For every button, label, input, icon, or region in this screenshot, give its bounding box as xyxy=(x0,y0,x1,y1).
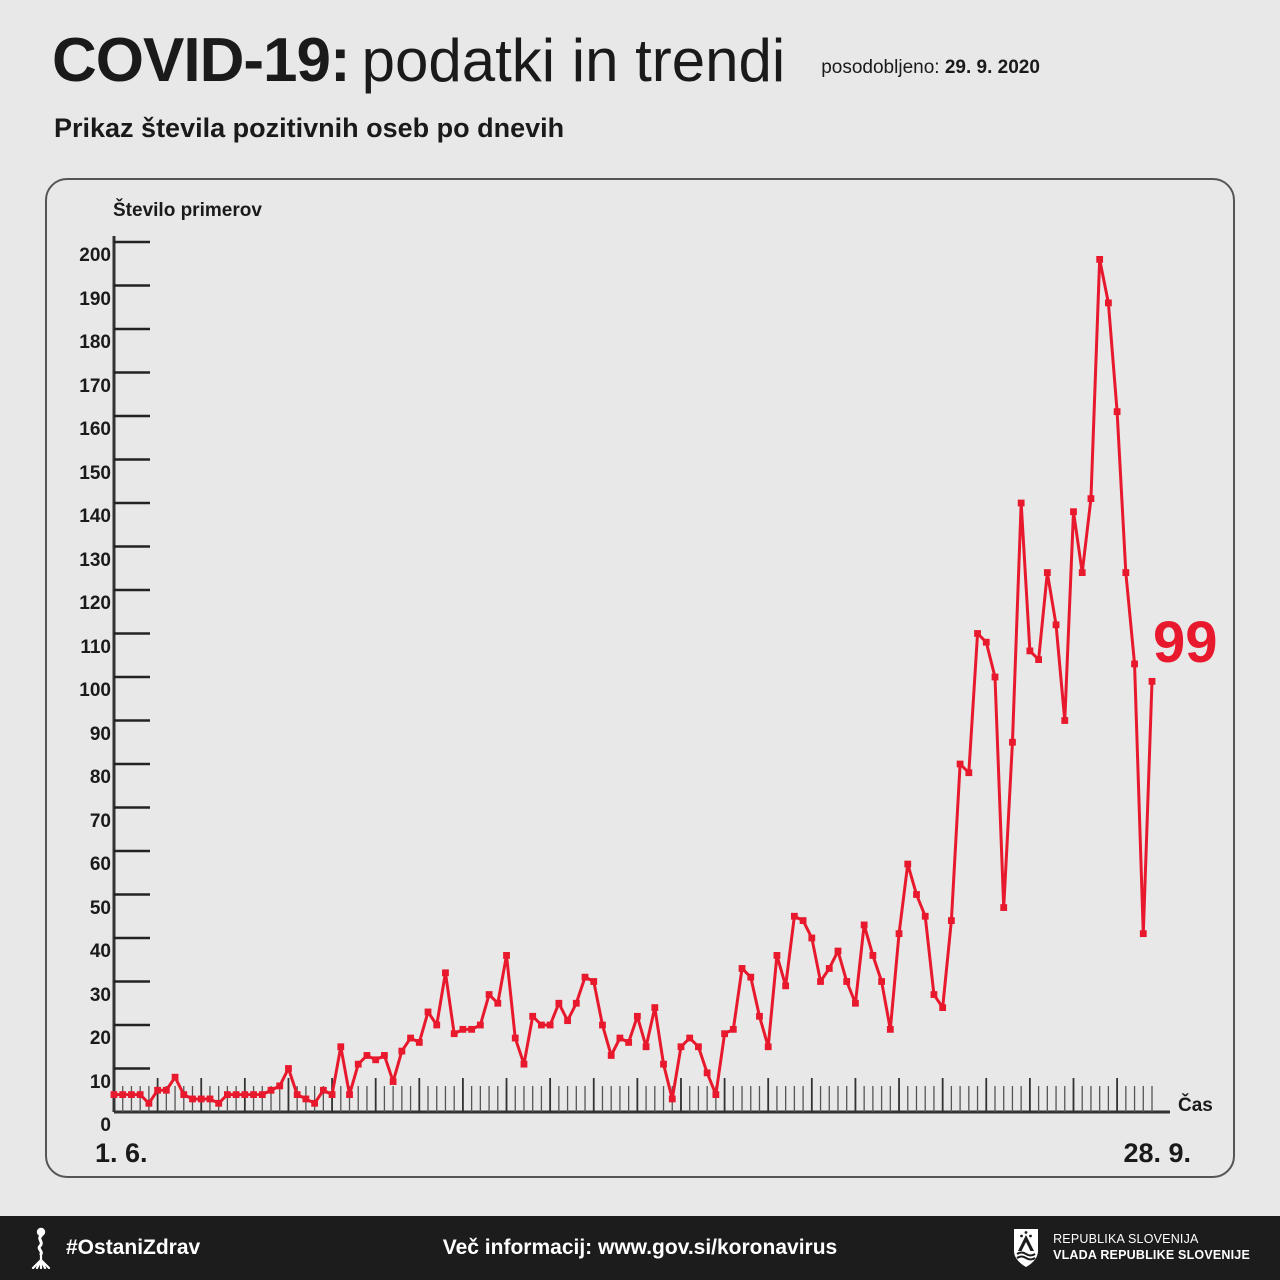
y-axis-tick-30: 30 xyxy=(67,985,111,1007)
y-axis-tick-40: 40 xyxy=(67,941,111,963)
updated-label: posodobljeno: xyxy=(821,57,939,78)
hashtag-label: #OstaniZdrav xyxy=(66,1236,200,1260)
y-axis-tick-160: 160 xyxy=(67,419,111,441)
chart-card: Število primerov 01020304050607080901001… xyxy=(45,178,1235,1178)
y-axis-title: Število primerov xyxy=(113,200,262,222)
stay-healthy-icon xyxy=(28,1227,54,1269)
last-value-annotation: 99 xyxy=(1153,614,1218,672)
gov-line-2: VLADA REPUBLIKE SLOVENIJE xyxy=(1053,1248,1250,1264)
gov-text-block: REPUBLIKA SLOVENIJA VLADA REPUBLIKE SLOV… xyxy=(1053,1232,1250,1263)
more-info-link[interactable]: Več informacij: www.gov.si/koronavirus xyxy=(443,1236,837,1260)
y-axis-tick-10: 10 xyxy=(67,1072,111,1094)
y-axis-tick-60: 60 xyxy=(67,854,111,876)
updated-stamp: posodobljeno: 29. 9. 2020 xyxy=(821,57,1040,79)
y-axis-tick-150: 150 xyxy=(67,463,111,485)
page-title-strong: COVID-19: xyxy=(52,30,350,92)
page-subtitle: Prikaz števila pozitivnih oseb po dnevih xyxy=(54,113,564,144)
y-axis-tick-180: 180 xyxy=(67,332,111,354)
coat-of-arms-icon xyxy=(1011,1227,1041,1269)
y-axis-tick-20: 20 xyxy=(67,1028,111,1050)
x-axis-title: Čas xyxy=(1178,1095,1213,1117)
page-title: COVID-19: podatki in trendi posodobljeno… xyxy=(52,30,1040,92)
y-axis-tick-200: 200 xyxy=(67,245,111,267)
x-axis-end-label: 28. 9. xyxy=(1123,1138,1191,1169)
y-axis-tick-100: 100 xyxy=(67,680,111,702)
y-axis-tick-70: 70 xyxy=(67,811,111,833)
y-axis-tick-80: 80 xyxy=(67,767,111,789)
footer-gov-group: REPUBLIKA SLOVENIJA VLADA REPUBLIKE SLOV… xyxy=(1011,1216,1250,1280)
y-axis-tick-140: 140 xyxy=(67,506,111,528)
y-axis-tick-50: 50 xyxy=(67,898,111,920)
y-axis-tick-0: 0 xyxy=(67,1115,111,1137)
line-chart-svg xyxy=(47,180,1237,1180)
y-axis-tick-130: 130 xyxy=(67,550,111,572)
y-axis-tick-110: 110 xyxy=(67,637,111,659)
y-axis-tick-170: 170 xyxy=(67,376,111,398)
x-axis-start-label: 1. 6. xyxy=(95,1138,148,1169)
footer-hashtag-group: #OstaniZdrav xyxy=(28,1216,200,1280)
gov-line-1: REPUBLIKA SLOVENIJA xyxy=(1053,1232,1250,1248)
y-axis-tick-90: 90 xyxy=(67,724,111,746)
y-axis-tick-190: 190 xyxy=(67,289,111,311)
y-axis-tick-120: 120 xyxy=(67,593,111,615)
y-axis-tick-labels: 0102030405060708090100110120130140150160… xyxy=(61,180,111,1180)
chart-plot-area: Število primerov 01020304050607080901001… xyxy=(47,180,1237,1180)
page-title-rest: podatki in trendi xyxy=(362,31,786,91)
page-header: COVID-19: podatki in trendi posodobljeno… xyxy=(0,0,1280,178)
updated-date: 29. 9. 2020 xyxy=(945,57,1040,78)
page-footer: #OstaniZdrav Več informacij: www.gov.si/… xyxy=(0,1216,1280,1280)
